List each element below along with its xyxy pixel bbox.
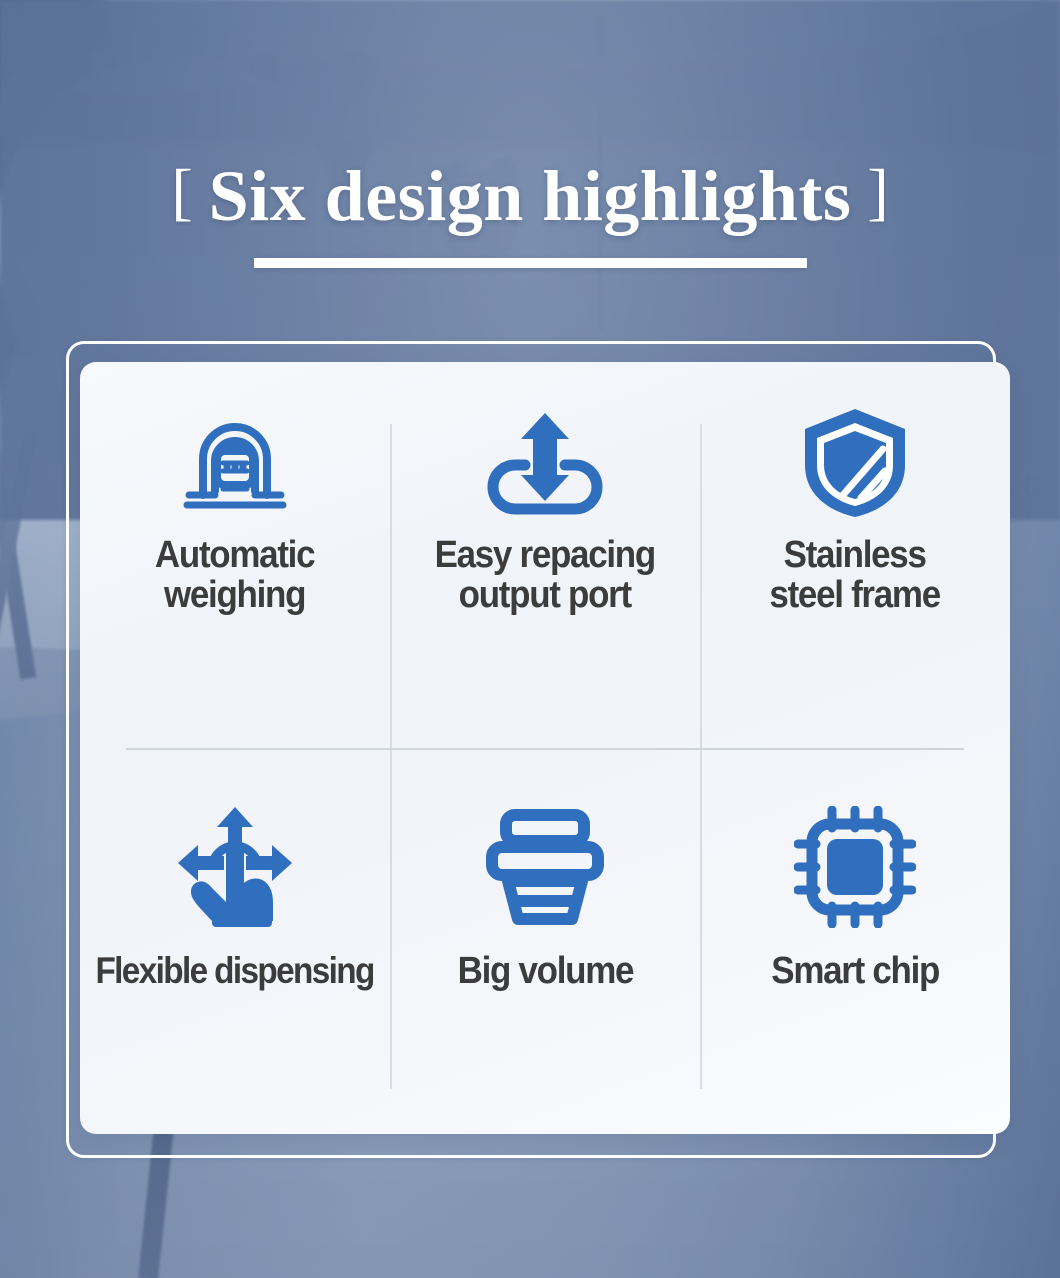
bracket-left-icon: [	[171, 160, 192, 224]
page-title: Six design highlights	[209, 160, 852, 232]
title-underline-bar	[254, 258, 807, 268]
cup-container-icon	[484, 804, 606, 930]
shield-icon	[799, 404, 911, 522]
feature-label: Smart chip	[771, 952, 939, 992]
up-down-arrows-port-icon	[481, 404, 609, 522]
feature-label: Flexible dispensing	[96, 952, 374, 991]
hand-multi-direction-icon	[176, 804, 294, 930]
cpu-chip-icon	[794, 804, 916, 930]
bracket-right-icon: ]	[867, 160, 888, 224]
feature-label: Stainless steel frame	[770, 536, 940, 616]
features-card: Automatic weighing Easy repacing	[80, 362, 1010, 1134]
feature-label: Big volume	[457, 952, 633, 992]
weighing-scale-icon	[177, 404, 293, 522]
feature-cell-big-volume[interactable]: Big volume	[390, 748, 700, 1134]
title-block: [ Six design highlights ]	[0, 150, 1060, 268]
infographic-stage: AP BUC [ Six design highlights ]	[0, 0, 1060, 1278]
feature-cell-stainless-steel-frame[interactable]: Stainless steel frame	[700, 362, 1010, 748]
feature-cell-flexible-dispensing[interactable]: Flexible dispensing	[80, 748, 390, 1134]
features-grid: Automatic weighing Easy repacing	[80, 362, 1010, 1134]
title-row: [ Six design highlights ]	[0, 150, 1060, 242]
feature-label: Easy repacing output port	[435, 536, 655, 616]
feature-cell-smart-chip[interactable]: Smart chip	[700, 748, 1010, 1134]
feature-cell-easy-repacing-output-port[interactable]: Easy repacing output port	[390, 362, 700, 748]
feature-cell-automatic-weighing[interactable]: Automatic weighing	[80, 362, 390, 748]
feature-label: Automatic weighing	[155, 536, 314, 616]
